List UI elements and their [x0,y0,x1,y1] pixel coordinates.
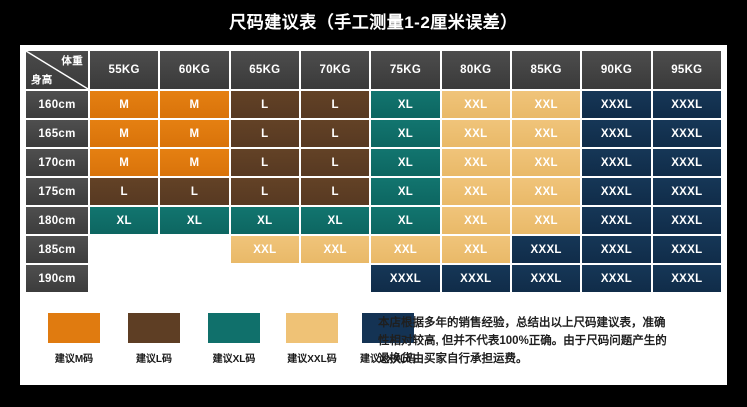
size-cell: XL [371,120,439,147]
size-cell: XXXL [582,207,650,234]
legend-swatch-M [48,313,100,343]
size-cell: XXXL [582,149,650,176]
column-header-75kg: 75KG [371,51,439,89]
size-cell: L [231,149,299,176]
column-header-85kg: 85KG [512,51,580,89]
size-cell: L [301,149,369,176]
legend-swatch-L [128,313,180,343]
size-cell: XXXL [512,236,580,263]
disclaimer-line-3: 退换货由买家自行承担运费。 [378,351,708,369]
size-cell: XXL [442,149,510,176]
header-row: 体重 身高 55KG 60KG 65KG 70KG 75KG 80KG 85KG… [26,51,721,89]
table-row: 170cmMMLLXLXXLXXLXXXLXXXL [26,149,721,176]
size-cell: XL [160,207,228,234]
size-cell: L [301,91,369,118]
size-cell: M [90,149,158,176]
size-cell: XXL [512,207,580,234]
size-cell: XL [371,91,439,118]
chart-panel: 体重 身高 55KG 60KG 65KG 70KG 75KG 80KG 85KG… [20,45,727,385]
size-cell [231,265,299,292]
size-cell: XXL [442,120,510,147]
size-cell: XXXL [582,236,650,263]
column-header-55kg: 55KG [90,51,158,89]
disclaimer-line-2: 性相对较高, 但并不代表100%正确。由于尺码问题产生的 [378,333,708,351]
size-cell: XXXL [653,236,721,263]
column-header-80kg: 80KG [442,51,510,89]
corner-height-label: 身高 [31,72,53,87]
size-table: 体重 身高 55KG 60KG 65KG 70KG 75KG 80KG 85KG… [24,49,723,294]
size-cell: XL [301,207,369,234]
size-cell: XXL [512,91,580,118]
size-cell [90,265,158,292]
size-cell: L [231,91,299,118]
disclaimer-note: 本店根据多年的销售经验，总结出以上尺码建议表，准确 性相对较高, 但并不代表10… [378,315,708,368]
size-cell: XL [371,149,439,176]
column-header-95kg: 95KG [653,51,721,89]
size-cell: XXXL [653,178,721,205]
size-cell [160,265,228,292]
size-cell: XXXL [512,265,580,292]
size-cell: XL [371,207,439,234]
legend-item-M: 建议M码 [48,313,100,365]
size-cell [160,236,228,263]
legend-label-M: 建议M码 [48,350,100,365]
column-header-60kg: 60KG [160,51,228,89]
size-cell: XXL [371,236,439,263]
legend-item-XXL: 建议XXL码 [286,313,338,365]
row-header-190cm: 190cm [26,265,88,292]
table-row: 190cmXXXLXXXLXXXLXXXLXXXL [26,265,721,292]
legend-item-XL: 建议XL码 [208,313,260,365]
size-cell: XXL [301,236,369,263]
size-cell: XXL [512,178,580,205]
legend-swatch-XXL [286,313,338,343]
row-header-165cm: 165cm [26,120,88,147]
size-cell: XXXL [442,265,510,292]
table-row: 175cmLLLLXLXXLXXLXXXLXXXL [26,178,721,205]
size-cell: XXXL [653,265,721,292]
size-cell: XXL [442,178,510,205]
size-cell: XXXL [582,120,650,147]
size-cell: L [301,120,369,147]
legend-label-L: 建议L码 [128,350,180,365]
size-cell: XXXL [653,207,721,234]
size-cell: XXXL [582,178,650,205]
size-cell: M [160,91,228,118]
size-cell: L [301,178,369,205]
row-header-185cm: 185cm [26,236,88,263]
size-cell: M [90,120,158,147]
size-cell: XXL [442,91,510,118]
size-cell: XXXL [653,91,721,118]
size-cell: XXXL [582,265,650,292]
size-cell: XL [90,207,158,234]
size-cell: XL [231,207,299,234]
size-cell: XXL [442,236,510,263]
row-header-170cm: 170cm [26,149,88,176]
page-title: 尺码建议表（手工测量1-2厘米误差） [0,8,747,33]
size-cell: XXXL [653,120,721,147]
legend: 建议M码建议L码建议XL码建议XXL码建议XXXL码 [28,313,378,379]
row-header-180cm: 180cm [26,207,88,234]
column-header-90kg: 90KG [582,51,650,89]
size-cell: XXXL [653,149,721,176]
corner-weight-label: 体重 [61,53,83,68]
column-header-70kg: 70KG [301,51,369,89]
legend-item-L: 建议L码 [128,313,180,365]
size-cell: L [231,178,299,205]
legend-swatch-XL [208,313,260,343]
size-cell: XXL [512,149,580,176]
size-cell: XL [371,178,439,205]
size-cell: XXL [512,120,580,147]
corner-cell: 体重 身高 [26,51,88,89]
table-header: 体重 身高 55KG 60KG 65KG 70KG 75KG 80KG 85KG… [26,51,721,89]
size-table-wrapper: 体重 身高 55KG 60KG 65KG 70KG 75KG 80KG 85KG… [24,49,723,294]
size-cell: M [160,149,228,176]
legend-label-XL: 建议XL码 [208,350,260,365]
table-row: 185cmXXLXXLXXLXXLXXXLXXXLXXXL [26,236,721,263]
table-body: 160cmMMLLXLXXLXXLXXXLXXXL165cmMMLLXLXXLX… [26,91,721,292]
size-cell: L [231,120,299,147]
size-cell: L [160,178,228,205]
size-cell: XXL [231,236,299,263]
size-cell: L [90,178,158,205]
size-cell: XXXL [371,265,439,292]
row-header-175cm: 175cm [26,178,88,205]
table-row: 160cmMMLLXLXXLXXLXXXLXXXL [26,91,721,118]
size-chart-page: 尺码建议表（手工测量1-2厘米误差） 体重 身高 55KG 60KG [0,0,747,407]
size-cell [301,265,369,292]
legend-label-XXL: 建议XXL码 [286,350,338,365]
size-cell: M [90,91,158,118]
table-row: 180cmXLXLXLXLXLXXLXXLXXXLXXXL [26,207,721,234]
size-cell: M [160,120,228,147]
column-header-65kg: 65KG [231,51,299,89]
size-cell [90,236,158,263]
size-cell: XXL [442,207,510,234]
size-cell: XXXL [582,91,650,118]
disclaimer-line-1: 本店根据多年的销售经验，总结出以上尺码建议表，准确 [378,315,708,333]
table-row: 165cmMMLLXLXXLXXLXXXLXXXL [26,120,721,147]
row-header-160cm: 160cm [26,91,88,118]
